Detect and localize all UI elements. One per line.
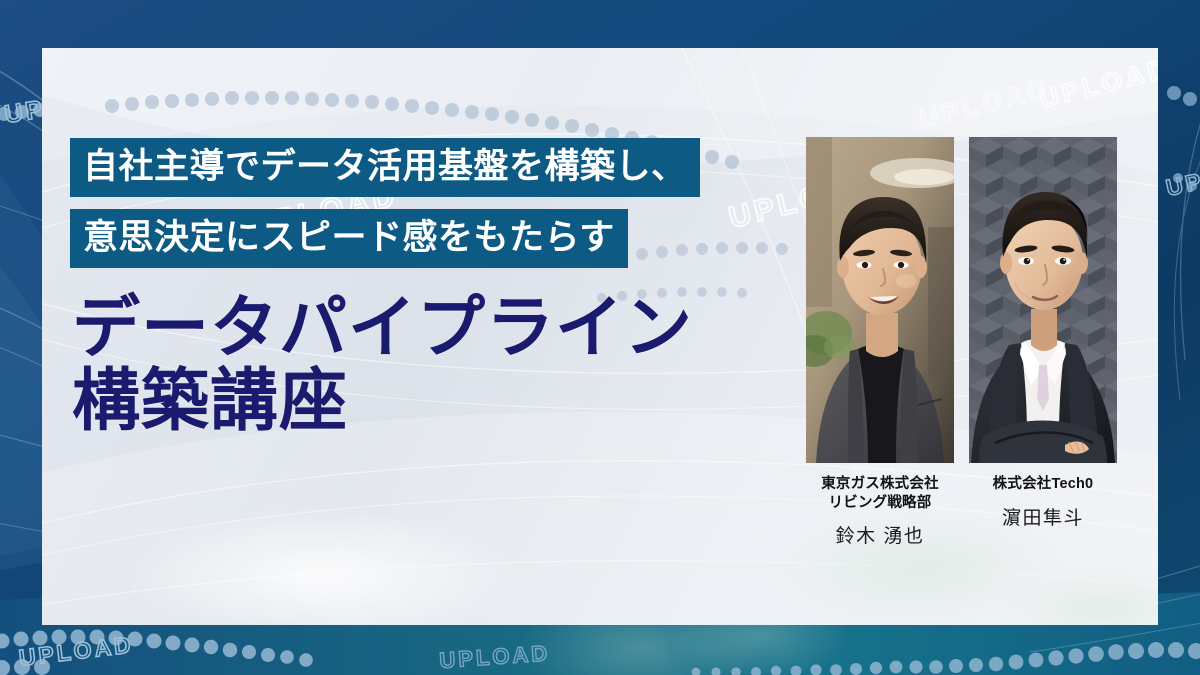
headline-group: 自社主導でデータ活用基盤を構築し、 意思決定にスピード感をもたらす [70, 138, 700, 268]
page-title-line-1: データパイプライン [72, 292, 693, 365]
headline-band-2: 意思決定にスピード感をもたらす [70, 209, 628, 268]
page-title: データパイプライン 構築講座 [72, 292, 693, 438]
speaker-photo-suzuki [806, 137, 954, 463]
speaker-org-line-2: リビング戦略部 [806, 494, 954, 513]
speaker-group: 東京ガス株式会社 リビング戦略部 鈴木 湧也 [806, 137, 1117, 548]
speaker-card-hamada: 株式会社Tech0 濵田隼斗 [969, 137, 1117, 530]
headline-row-1: 自社主導でデータ活用基盤を構築し、 [70, 138, 700, 197]
speaker-name-hamada: 濵田隼斗 [969, 503, 1117, 530]
speaker-org-line-1: 東京ガス株式会社 [806, 475, 954, 494]
speaker-photo-hamada [969, 137, 1117, 463]
speaker-org-line-1: 株式会社Tech0 [969, 475, 1117, 494]
speaker-org-hamada: 株式会社Tech0 [969, 475, 1117, 494]
avatar [806, 137, 954, 463]
speaker-caption-hamada: 株式会社Tech0 濵田隼斗 [969, 475, 1117, 530]
headline-row-2: 意思決定にスピード感をもたらす [70, 209, 700, 268]
speaker-card-suzuki: 東京ガス株式会社 リビング戦略部 鈴木 湧也 [806, 137, 954, 548]
page-title-line-2: 構築講座 [72, 365, 693, 438]
speaker-org-suzuki: 東京ガス株式会社 リビング戦略部 [806, 475, 954, 512]
headline-band-1: 自社主導でデータ活用基盤を構築し、 [70, 138, 700, 197]
speaker-name-suzuki: 鈴木 湧也 [806, 521, 954, 548]
speaker-caption-suzuki: 東京ガス株式会社 リビング戦略部 鈴木 湧也 [806, 475, 954, 548]
avatar [969, 137, 1117, 463]
